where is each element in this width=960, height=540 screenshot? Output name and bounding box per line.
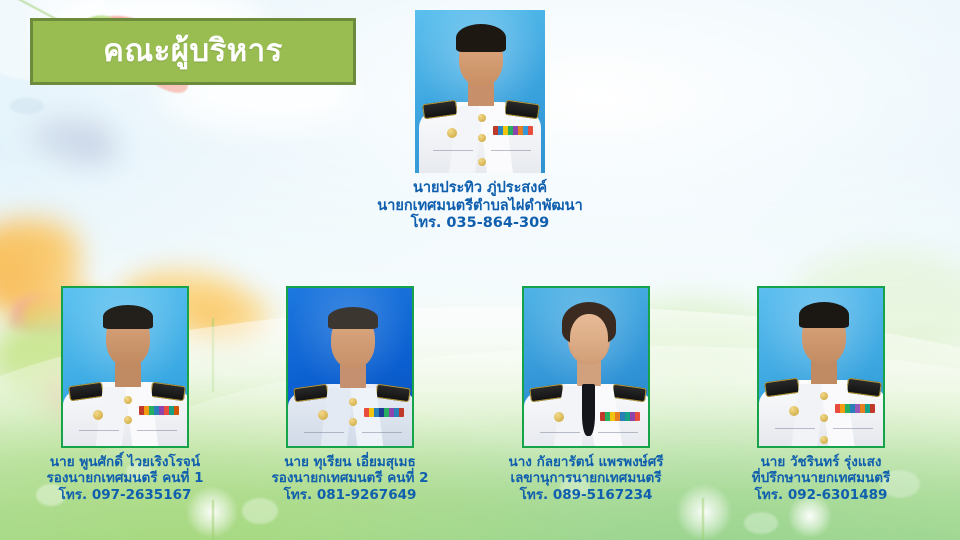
decor-stem bbox=[702, 498, 704, 540]
person-name: นายประทิว ภู่ประสงค์ bbox=[330, 180, 630, 198]
person-phone: โทร. 081-9267649 bbox=[230, 487, 470, 503]
ribbon-bar bbox=[139, 406, 179, 415]
portrait-photo-deputy-1 bbox=[61, 286, 189, 448]
person-caption: นาง กัลยารัตน์ แพรพงษ์ศรี เลขานุการนายกเ… bbox=[466, 454, 706, 503]
person-card-mayor: นายประทิว ภู่ประสงค์ นายกเทศมนตรีตำบลไผ่… bbox=[330, 10, 630, 233]
person-phone: โทร. 097-2635167 bbox=[5, 487, 245, 503]
ribbon-bar bbox=[364, 408, 404, 417]
person-caption: นาย ทุเรียน เอี่ยมสุเมธ รองนายกเทศมนตรี … bbox=[230, 454, 470, 503]
person-position: เลขานุการนายกเทศมนตรี bbox=[466, 470, 706, 486]
page-title-banner: คณะผู้บริหาร bbox=[30, 18, 356, 85]
person-name: นาย วัชรินทร์ รุ่งแสง bbox=[696, 454, 946, 470]
ribbon-bar bbox=[493, 126, 533, 135]
person-card-advisor: นาย วัชรินทร์ รุ่งแสง ที่ปรึกษานายกเทศมน… bbox=[696, 286, 946, 503]
ribbon-bar bbox=[835, 404, 875, 413]
decor-circle bbox=[10, 98, 44, 114]
person-caption: นาย วัชรินทร์ รุ่งแสง ที่ปรึกษานายกเทศมน… bbox=[696, 454, 946, 503]
person-card-deputy-1: นาย พูนศักดิ์ ไวยเริงโรจน์ รองนายกเทศมนต… bbox=[5, 286, 245, 503]
person-name: นาย พูนศักดิ์ ไวยเริงโรจน์ bbox=[5, 454, 245, 470]
person-position: นายกเทศมนตรีตำบลไผ่ดำพัฒนา bbox=[330, 198, 630, 216]
page-title: คณะผู้บริหาร bbox=[103, 36, 283, 67]
person-position: ที่ปรึกษานายกเทศมนตรี bbox=[696, 470, 946, 486]
person-phone: โทร. 035-864-309 bbox=[330, 215, 630, 233]
decor-stem bbox=[212, 500, 214, 540]
decor-bokeh bbox=[744, 512, 778, 534]
person-caption: นาย พูนศักดิ์ ไวยเริงโรจน์ รองนายกเทศมนต… bbox=[5, 454, 245, 503]
person-position: รองนายกเทศมนตรี คนที่ 2 bbox=[230, 470, 470, 486]
portrait-photo-deputy-2 bbox=[286, 286, 414, 448]
person-phone: โทร. 092-6301489 bbox=[696, 487, 946, 503]
decor-blob bbox=[70, 138, 118, 162]
person-position: รองนายกเทศมนตรี คนที่ 1 bbox=[5, 470, 245, 486]
slide-executive-board: คณะผู้บริหาร นายประทิว bbox=[0, 0, 960, 540]
person-card-deputy-2: นาย ทุเรียน เอี่ยมสุเมธ รองนายกเทศมนตรี … bbox=[230, 286, 470, 503]
ribbon-bar bbox=[600, 412, 640, 421]
portrait-photo-secretary bbox=[522, 286, 650, 448]
person-name: นาย ทุเรียน เอี่ยมสุเมธ bbox=[230, 454, 470, 470]
person-card-secretary: นาง กัลยารัตน์ แพรพงษ์ศรี เลขานุการนายกเ… bbox=[466, 286, 706, 503]
person-caption: นายประทิว ภู่ประสงค์ นายกเทศมนตรีตำบลไผ่… bbox=[330, 180, 630, 233]
person-name: นาง กัลยารัตน์ แพรพงษ์ศรี bbox=[466, 454, 706, 470]
necktie bbox=[582, 384, 595, 436]
portrait-photo-advisor bbox=[757, 286, 885, 448]
portrait-photo-mayor bbox=[415, 10, 545, 173]
person-phone: โทร. 089-5167234 bbox=[466, 487, 706, 503]
